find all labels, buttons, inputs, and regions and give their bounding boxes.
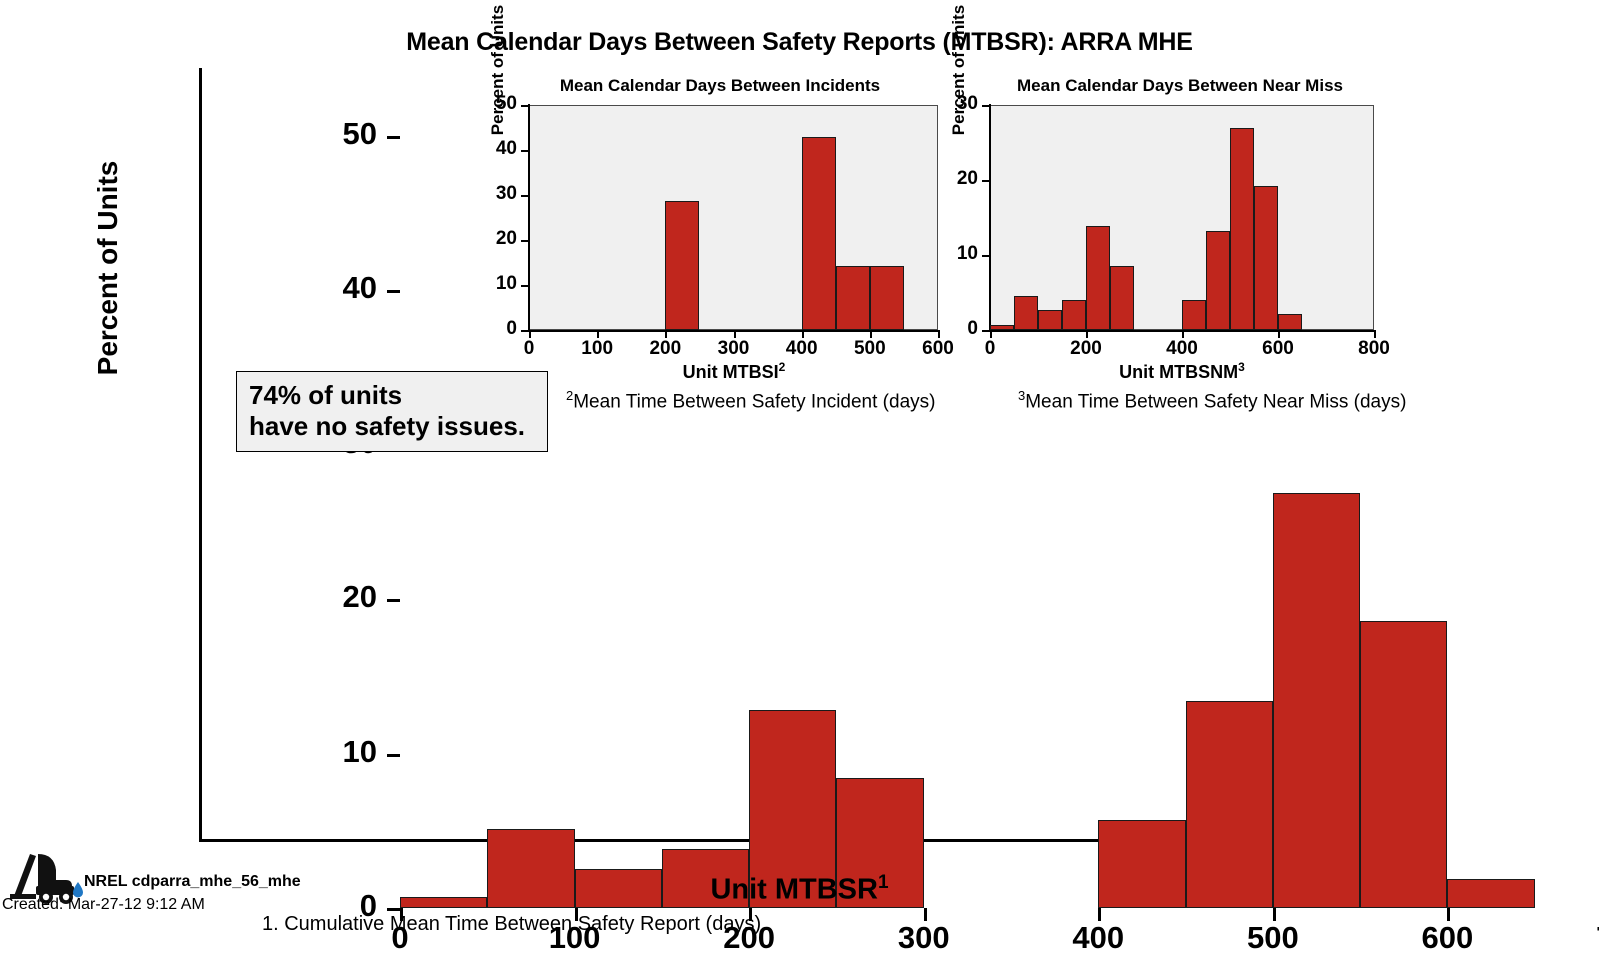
- main-bar: [1360, 621, 1447, 908]
- inset-incidents-x-axis-label-sup: 2: [779, 360, 786, 374]
- inset-incidents-x-tick-label: 300: [718, 339, 750, 358]
- inset-nearmiss-y-tick-label: 20: [888, 169, 978, 188]
- inset-nearmiss-x-tick-label: 400: [1166, 339, 1198, 358]
- inset-incidents-y-tick-label: 0: [427, 319, 517, 338]
- inset-incidents-x-tick-label: 0: [524, 339, 535, 358]
- inset-nearmiss-x-tick-label: 200: [1070, 339, 1102, 358]
- inset-incidents-y-tick: [521, 195, 529, 197]
- inset-incidents-y-tick-label: 30: [427, 184, 517, 203]
- inset-incidents-x-tick-label: 400: [786, 339, 818, 358]
- main-x-tick-label: 400: [1072, 922, 1124, 953]
- main-y-tick: [387, 599, 400, 602]
- inset-nearmiss-bar: [1062, 300, 1086, 330]
- inset-incidents-x-tick: [734, 330, 736, 338]
- main-y-tick: [387, 754, 400, 757]
- main-y-tick-label: 20: [287, 581, 377, 612]
- inset-nearmiss-x-tick-label: 600: [1262, 339, 1294, 358]
- inset-incidents-bar: [836, 266, 870, 330]
- page-title: Mean Calendar Days Between Safety Report…: [0, 28, 1599, 57]
- inset-nearmiss-y-tick: [982, 255, 990, 257]
- inset-incidents-title: Mean Calendar Days Between Incidents: [520, 76, 920, 96]
- inset-nearmiss-bar: [1206, 231, 1230, 330]
- inset-nearmiss-bar: [1278, 314, 1302, 331]
- main-x-tick-label: 500: [1247, 922, 1299, 953]
- main-y-tick: [387, 136, 400, 139]
- inset-nearmiss-x-tick: [1182, 330, 1184, 338]
- inset-nearmiss-y-tick-label: 10: [888, 244, 978, 263]
- footnote-nearmiss: 3Mean Time Between Safety Near Miss (day…: [1018, 388, 1406, 413]
- inset-incidents-x-tick: [665, 330, 667, 338]
- main-y-tick: [387, 908, 400, 911]
- inset-incidents-y-axis-line: [528, 104, 530, 332]
- inset-nearmiss-y-tick: [982, 105, 990, 107]
- inset-incidents-x-tick: [870, 330, 872, 338]
- annotation-callout: 74% of units have no safety issues.: [236, 371, 548, 452]
- inset-nearmiss-y-axis-line: [989, 104, 991, 332]
- nrel-credit: NREL cdparra_mhe_56_mhe: [84, 873, 301, 891]
- inset-incidents-x-tick-label: 200: [649, 339, 681, 358]
- footnote-incidents: 2Mean Time Between Safety Incident (days…: [566, 388, 935, 413]
- inset-nearmiss-x-axis-label: Unit MTBSNM3: [982, 360, 1382, 383]
- annotation-line-1: 74% of units: [249, 380, 537, 411]
- main-bar: [1273, 493, 1360, 908]
- inset-incidents-x-tick-label: 500: [854, 339, 886, 358]
- inset-nearmiss-bar: [1230, 128, 1254, 331]
- main-x-axis-label-text: Unit MTBSR: [710, 874, 878, 906]
- inset-incidents-x-tick: [802, 330, 804, 338]
- inset-incidents-bar: [802, 137, 836, 331]
- inset-incidents-x-tick-label: 100: [581, 339, 613, 358]
- inset-nearmiss-x-tick: [1374, 330, 1376, 338]
- footnote-mtbsr: 1. Cumulative Mean Time Between Safety R…: [262, 913, 761, 936]
- inset-nearmiss-y-tick-label: 0: [888, 319, 978, 338]
- inset-incidents-x-tick: [529, 330, 531, 338]
- inset-incidents-x-axis-label-text: Unit MTBSI: [683, 362, 779, 382]
- inset-incidents-y-tick-label: 40: [427, 139, 517, 158]
- inset-incidents-y-tick: [521, 105, 529, 107]
- main-x-tick-label: 600: [1422, 922, 1474, 953]
- main-x-axis-label-sup: 1: [878, 872, 889, 893]
- inset-incidents-y-tick: [521, 150, 529, 152]
- footnote-nearmiss-text: Mean Time Between Safety Near Miss (days…: [1025, 391, 1406, 412]
- inset-nearmiss-x-tick-label: 0: [985, 339, 996, 358]
- inset-incidents-bar: [665, 201, 699, 330]
- inset-nearmiss-x-tick: [1278, 330, 1280, 338]
- inset-incidents-y-tick: [521, 240, 529, 242]
- inset-nearmiss-y-axis-label: Percent of Units: [949, 0, 969, 140]
- annotation-line-2: have no safety issues.: [249, 411, 537, 442]
- main-y-tick-label: 40: [287, 272, 377, 303]
- inset-nearmiss-y-tick: [982, 180, 990, 182]
- main-y-tick-label: 10: [287, 736, 377, 767]
- inset-incidents-y-axis-label: Percent of Units: [488, 0, 508, 140]
- inset-nearmiss-plot-area: [990, 105, 1374, 330]
- inset-nearmiss-x-tick-label: 800: [1358, 339, 1390, 358]
- inset-nearmiss-x-axis-label-sup: 3: [1238, 360, 1245, 374]
- main-y-axis-label: Percent of Units: [92, 138, 124, 398]
- main-y-tick-label: 50: [287, 118, 377, 149]
- main-y-tick: [387, 290, 400, 293]
- main-x-tick-label: 300: [898, 922, 950, 953]
- inset-incidents-x-tick-label: 600: [922, 339, 954, 358]
- inset-incidents-y-tick: [521, 285, 529, 287]
- inset-incidents-y-tick-label: 10: [427, 274, 517, 293]
- inset-incidents-x-axis-label: Unit MTBSI2: [534, 360, 934, 383]
- created-timestamp: Created: Mar-27-12 9:12 AM: [2, 896, 205, 914]
- inset-incidents-x-tick: [597, 330, 599, 338]
- inset-nearmiss-y-tick: [982, 330, 990, 332]
- inset-nearmiss-bar: [1038, 310, 1062, 330]
- inset-nearmiss-bar: [1110, 266, 1134, 331]
- footnote-incidents-text: Mean Time Between Safety Incident (days): [573, 391, 935, 412]
- inset-incidents-y-tick-label: 20: [427, 229, 517, 248]
- inset-nearmiss-title: Mean Calendar Days Between Near Miss: [975, 76, 1385, 96]
- inset-nearmiss-bar: [990, 325, 1014, 330]
- inset-nearmiss-bar: [1254, 186, 1278, 330]
- inset-nearmiss-x-axis-label-text: Unit MTBSNM: [1119, 362, 1238, 382]
- inset-nearmiss-bar: [1014, 296, 1038, 330]
- inset-nearmiss-x-tick: [990, 330, 992, 338]
- inset-nearmiss-bar: [1086, 226, 1110, 330]
- inset-incidents-y-tick: [521, 330, 529, 332]
- inset-nearmiss-bar: [1182, 300, 1206, 330]
- inset-nearmiss-x-tick: [1086, 330, 1088, 338]
